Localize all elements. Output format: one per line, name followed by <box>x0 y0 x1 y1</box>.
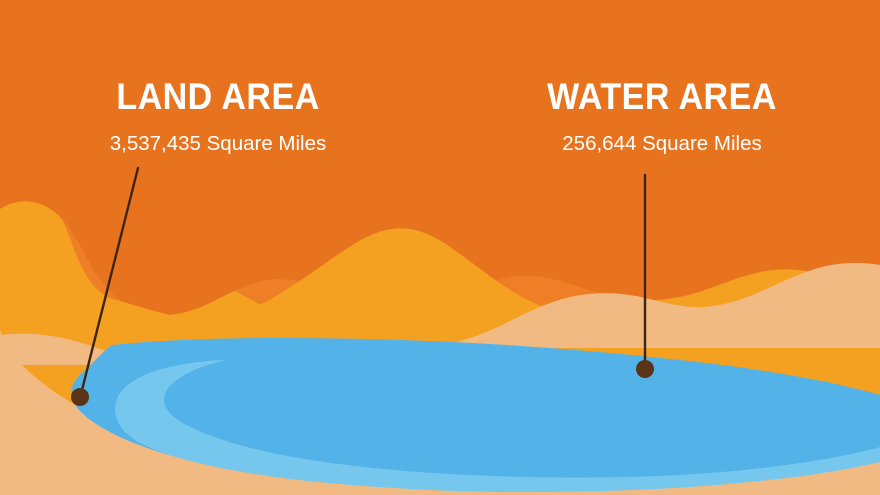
callout-water-area: WATER AREA 256,644 Square Miles <box>444 78 880 155</box>
water-area-title: WATER AREA <box>461 78 862 115</box>
water-area-value: 256,644 Square Miles <box>444 134 880 155</box>
text-overlay: LAND AREA 3,537,435 Square Miles WATER A… <box>0 0 880 495</box>
land-area-value: 3,537,435 Square Miles <box>0 134 436 155</box>
land-area-title: LAND AREA <box>17 78 418 115</box>
infographic-scene: LAND AREA 3,537,435 Square Miles WATER A… <box>0 0 880 495</box>
callout-land-area: LAND AREA 3,537,435 Square Miles <box>0 78 436 155</box>
